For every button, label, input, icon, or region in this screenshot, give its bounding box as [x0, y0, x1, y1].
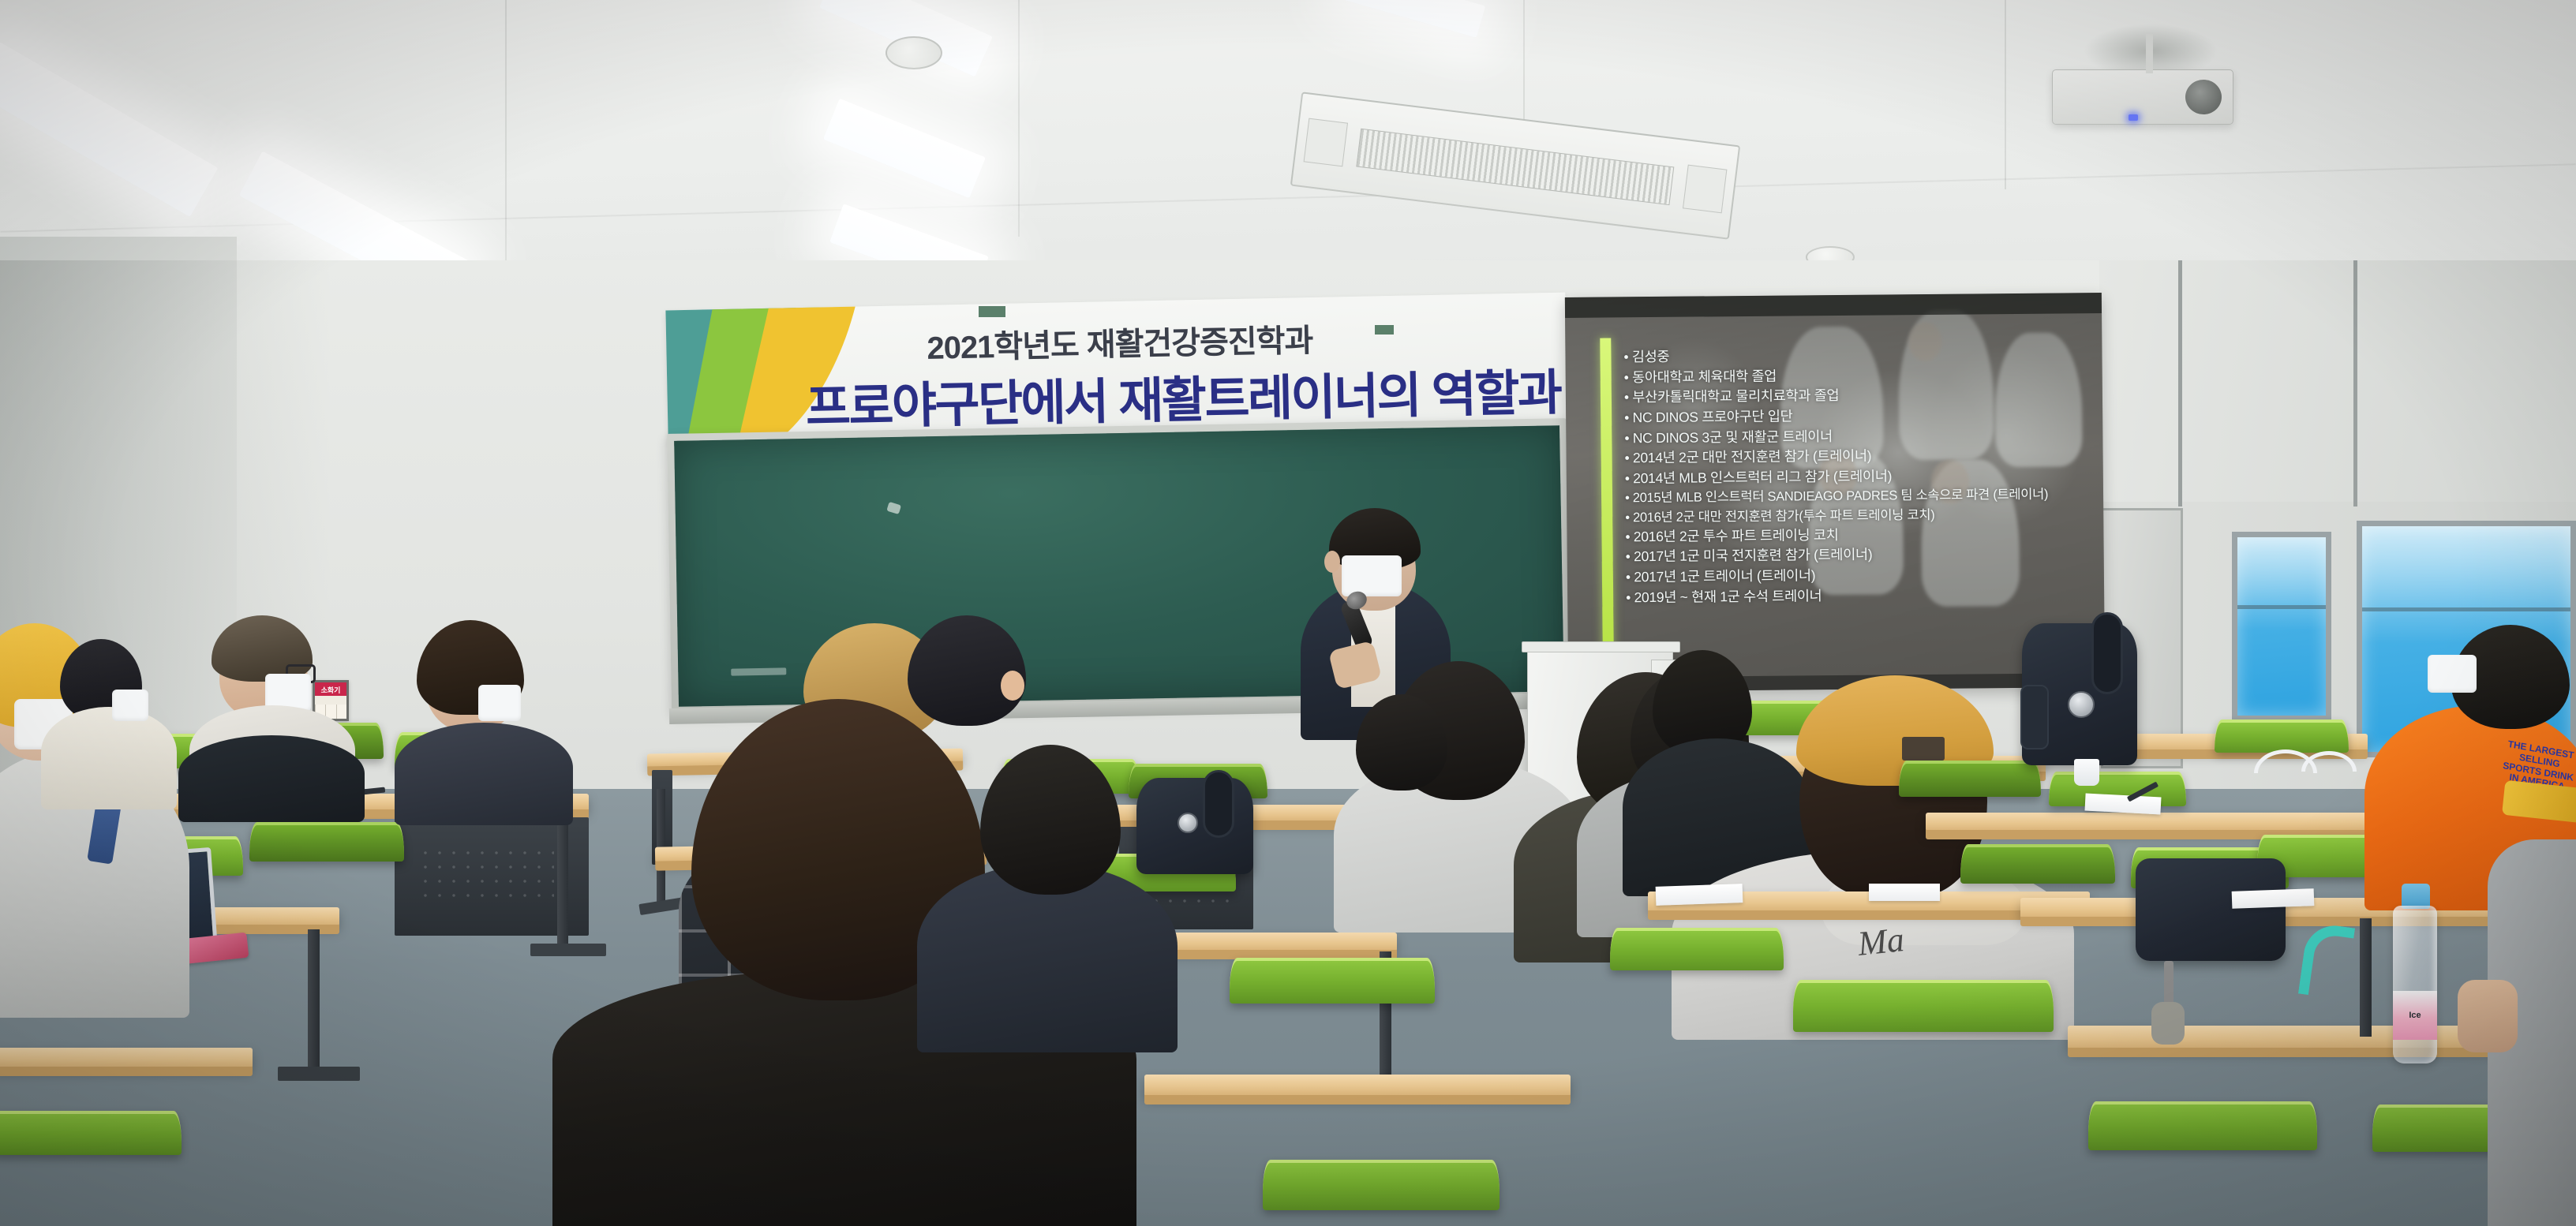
cap-back-gap: [1902, 737, 1945, 761]
keychain-strap: [2164, 961, 2173, 1005]
hoodie-graphic-text: Ma: [1855, 919, 1906, 964]
chair[interactable]: [249, 822, 404, 862]
banner-tack: [1375, 325, 1394, 335]
wall-panel-divider: [2178, 260, 2182, 506]
speaker-ear: [1324, 551, 1340, 573]
right-wall-upper: [2099, 260, 2576, 505]
attendee-hand: [2458, 980, 2518, 1052]
window-left: [2232, 532, 2331, 721]
backpack: [2022, 623, 2137, 765]
attendee-ponytail: [402, 623, 560, 805]
desk-farright-2: [1926, 813, 2368, 832]
chair[interactable]: [1793, 980, 2054, 1032]
classroom-photo-scene: 소화기 2021학년도 재활건강증진학과 프로야구단에서 재활트레이너의 역할과…: [0, 0, 2576, 1226]
paper-sheet[interactable]: [2232, 888, 2315, 909]
desk-foot: [278, 1067, 360, 1081]
tote-bag: [2136, 858, 2286, 961]
attendee-face-mask: [478, 685, 521, 721]
attendee-white-shirt: [1326, 694, 1484, 884]
attendee-navy-back: [930, 745, 1166, 1013]
slide-bullet-list: 김성중 동아대학교 체육대학 졸업 부산카톨릭대학교 물리치료학과 졸업 NC …: [1623, 343, 2098, 607]
ceiling-speaker-icon: [885, 36, 942, 69]
attendee-dark-hood: [46, 639, 164, 797]
water-bottle[interactable]: [2393, 906, 2437, 1063]
attendee-hair: [1356, 694, 1447, 791]
attendee-bottomleft-foreground: [0, 978, 213, 1226]
paper-cup[interactable]: [2074, 759, 2099, 786]
paper-sheet[interactable]: [1656, 884, 1743, 906]
projection-screen: 김성중 동아대학교 체육대학 졸업 부산카톨릭대학교 물리치료학과 졸업 NC …: [1565, 293, 2105, 692]
chair[interactable]: [1263, 1160, 1500, 1210]
attendee-gray-sleeve-foreground: [2488, 839, 2576, 1226]
attendee-hair: [980, 745, 1121, 895]
speaker-face-mask: [1342, 555, 1402, 596]
attendee-face-mask: [2428, 655, 2477, 693]
keychain-charm: [2151, 1002, 2185, 1045]
projector-icon: [2052, 69, 2233, 125]
chair[interactable]: [1960, 844, 2115, 884]
chair[interactable]: [1230, 958, 1435, 1004]
wall-panel-divider: [2353, 260, 2357, 506]
chair[interactable]: [2215, 720, 2349, 753]
desk-leg: [308, 929, 320, 1079]
ceiling-panel-seam: [1018, 0, 1020, 237]
banner-tack: [979, 306, 1005, 317]
attendee-cream-coat: [41, 707, 177, 809]
ceiling-panel-seam: [2005, 0, 2006, 189]
attendee-shoulder: [0, 978, 213, 1226]
chair[interactable]: [1899, 761, 2041, 797]
attendee-face-mask: [112, 690, 148, 721]
desk-mid-3: [1144, 1075, 1571, 1097]
attendee-jacket: [178, 735, 365, 822]
attendee-glasses-black-jacket: [193, 617, 350, 791]
chair[interactable]: [2088, 1101, 2317, 1150]
ceiling-panel-seam: [505, 0, 507, 260]
desk-leg: [2360, 918, 2372, 1037]
chair[interactable]: [1610, 928, 1784, 970]
attendee-top: [395, 723, 573, 825]
attendee-ear: [1001, 671, 1024, 701]
bottle-label: Ice: [2393, 991, 2437, 1040]
paper-sheet[interactable]: [1869, 884, 1940, 901]
slide-bullet: 2019년 ~ 현재 1군 수석 트레이너: [1626, 584, 2098, 608]
